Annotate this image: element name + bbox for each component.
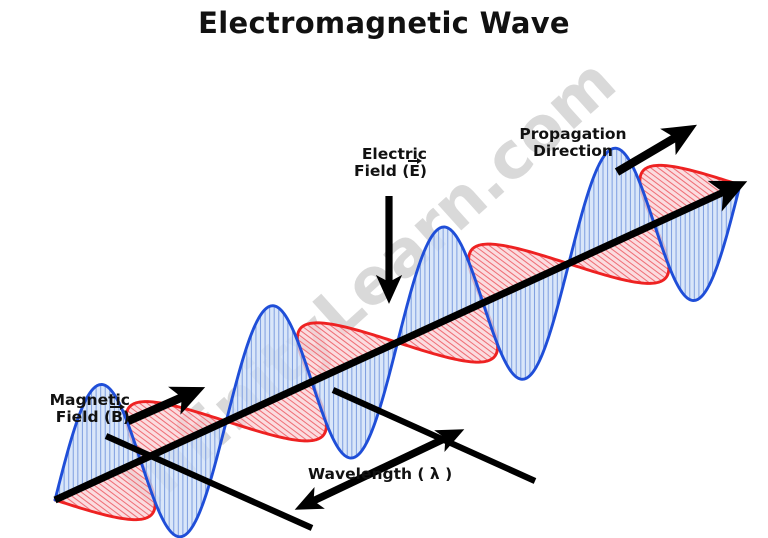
propagation-direction-label: Propagation Direction [514,126,632,161]
electric-field-vector-symbol: E [409,163,420,180]
propagation-label-line2: Direction [514,143,632,160]
magnetic-field-symbol: B [111,408,123,426]
electric-field-suffix: ) [420,162,427,180]
electromagnetic-wave-diagram: InfinityLearn.com [0,0,768,538]
magnetic-field-suffix: ) [123,408,130,426]
magnetic-field-prefix: Field ( [56,408,111,426]
magnetic-field-vector-symbol: B [111,409,123,426]
electric-field-prefix: Field ( [354,162,409,180]
diagram-canvas: Electromagnetic Wave InfinityLearn.com [0,0,768,538]
electric-field-label-line2: Field (E) [331,163,427,180]
propagation-label-line1: Propagation [514,126,632,143]
vector-arrow-icon [110,406,121,408]
wavelength-label: Wavelength ( λ ) [308,466,478,483]
magnetic-field-label: Magnetic Field (B) [12,392,130,427]
electric-field-symbol: E [409,162,420,180]
electric-field-label: Electric Field (E) [331,146,427,181]
magnetic-field-label-line2: Field (B) [12,409,130,426]
vector-arrow-icon [408,160,418,162]
